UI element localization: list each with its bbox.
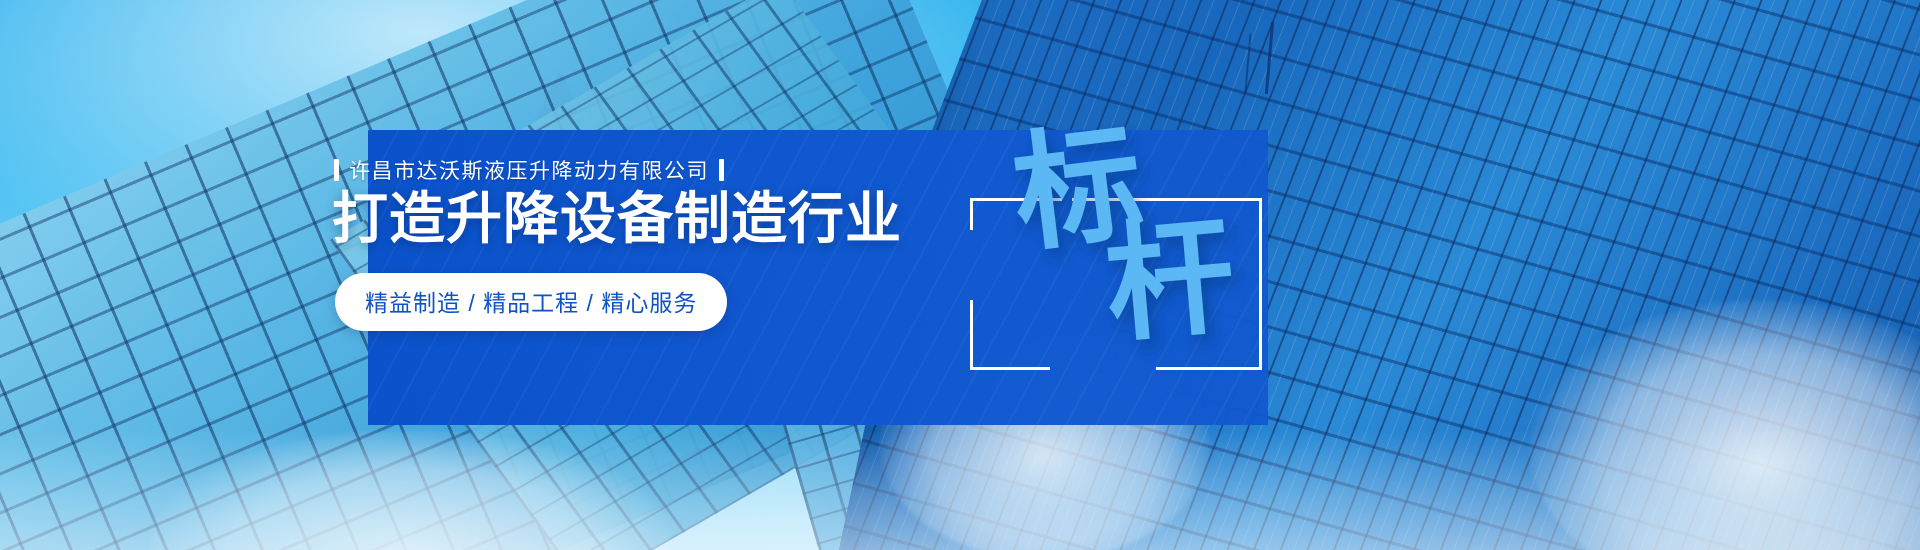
vertical-bar-icon-right xyxy=(719,159,724,181)
vertical-bar-icon-left xyxy=(334,159,339,181)
company-name-text: 许昌市达沃斯液压升降动力有限公司 xyxy=(349,155,709,185)
panel-content: 许昌市达沃斯液压升降动力有限公司 打造升降设备制造行业 精益制造 / 精品工程 … xyxy=(368,130,1268,425)
company-name-eyebrow: 许昌市达沃斯液压升降动力有限公司 xyxy=(334,155,724,185)
tagline-text: 精益制造 / 精品工程 / 精心服务 xyxy=(365,290,697,316)
headline-text: 打造升降设备制造行业 xyxy=(332,188,902,251)
hero-banner: 标 杆 许昌市达沃斯液压升降动力有限公司 打造升降设备制造行业 精益制造 / 精… xyxy=(0,0,1920,550)
tagline-pill[interactable]: 精益制造 / 精品工程 / 精心服务 xyxy=(335,273,727,331)
